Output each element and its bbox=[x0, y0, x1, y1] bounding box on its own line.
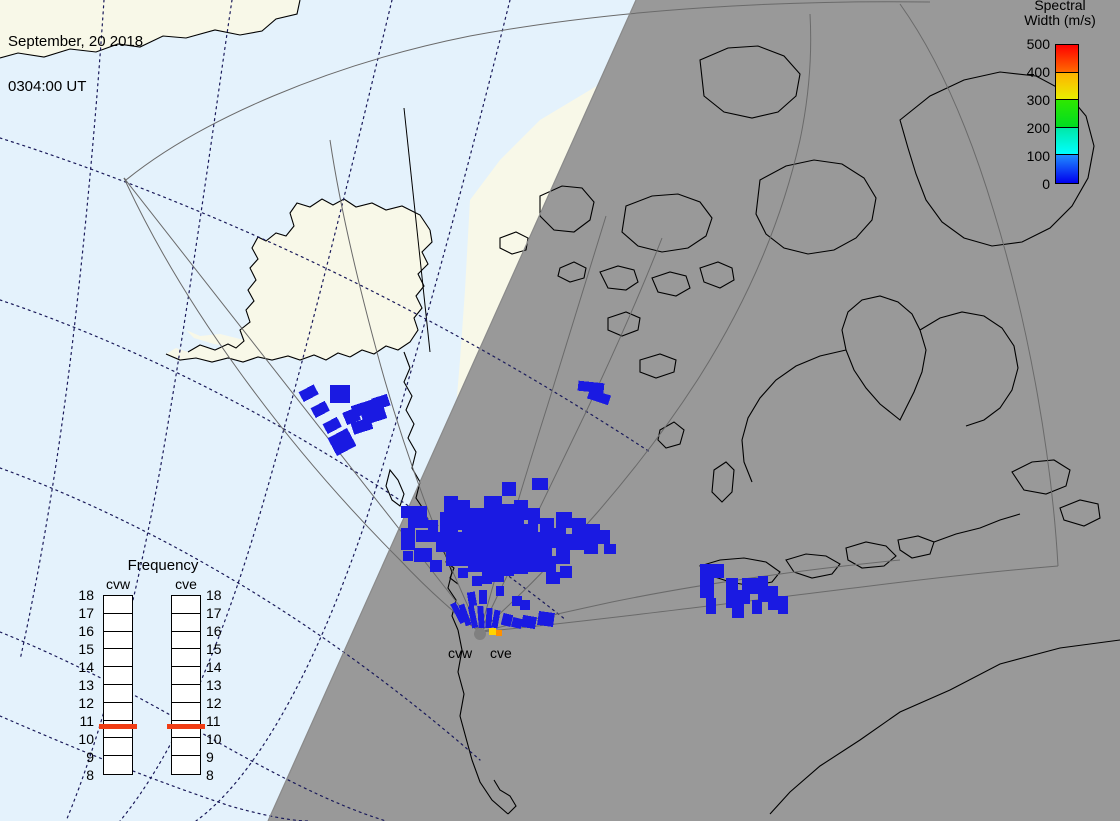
frequency-scale-tick-11: 11 bbox=[72, 714, 94, 728]
frequency-column-label-cve: cve bbox=[166, 577, 206, 592]
frequency-cell bbox=[172, 596, 200, 614]
colorbar-segment-0 bbox=[1056, 45, 1078, 73]
frequency-scale-tick-10: 10 bbox=[72, 732, 94, 746]
frequency-cell bbox=[172, 649, 200, 667]
frequency-cell bbox=[104, 614, 132, 632]
frequency-cell bbox=[104, 756, 132, 774]
frequency-scale-tick-14: 14 bbox=[72, 660, 94, 674]
frequency-scale-tick-8: 8 bbox=[72, 768, 94, 782]
colorbar-gradient bbox=[1055, 44, 1079, 184]
frequency-cell bbox=[104, 649, 132, 667]
frequency-scale-tick-16: 16 bbox=[206, 624, 228, 638]
frequency-bar-cvw bbox=[103, 595, 133, 775]
frequency-scale-tick-13: 13 bbox=[72, 678, 94, 692]
timestamp-time: 0304:00 UT bbox=[8, 79, 143, 94]
frequency-scale-tick-14: 14 bbox=[206, 660, 228, 674]
frequency-cell bbox=[104, 667, 132, 685]
colorbar-tick-labels: 5004003002001000 bbox=[1000, 36, 1050, 186]
site-label-cvw: cvw bbox=[448, 646, 472, 660]
frequency-column-label-cvw: cvw bbox=[98, 577, 138, 592]
frequency-scale-tick-10: 10 bbox=[206, 732, 228, 746]
frequency-legend-title: Frequency bbox=[88, 558, 238, 574]
colorbar-tick-300: 300 bbox=[1000, 93, 1050, 107]
frequency-cell bbox=[172, 667, 200, 685]
frequency-cell bbox=[172, 632, 200, 650]
colorbar-segment-1 bbox=[1056, 73, 1078, 101]
frequency-scale-tick-13: 13 bbox=[206, 678, 228, 692]
frequency-cell bbox=[172, 614, 200, 632]
frequency-scale-tick-9: 9 bbox=[72, 750, 94, 764]
colorbar-tick-200: 200 bbox=[1000, 121, 1050, 135]
colorbar-tick-0: 0 bbox=[1000, 177, 1050, 191]
colorbar-tick-400: 400 bbox=[1000, 65, 1050, 79]
site-label-cve: cve bbox=[490, 646, 512, 660]
colorbar-segment-4 bbox=[1056, 155, 1078, 183]
frequency-scale-tick-17: 17 bbox=[72, 606, 94, 620]
colorbar-title: Spectral Width (m/s) bbox=[1000, 0, 1120, 28]
frequency-scale-tick-15: 15 bbox=[206, 642, 228, 656]
superdarn-map-view: September, 20 2018 0304:00 UT Spectral W… bbox=[0, 0, 1120, 821]
frequency-cell bbox=[104, 703, 132, 721]
frequency-scale-tick-9: 9 bbox=[206, 750, 228, 764]
frequency-marker-cve bbox=[167, 724, 205, 729]
frequency-scale-left: 18171615141312111098 bbox=[72, 588, 94, 783]
frequency-cell bbox=[104, 738, 132, 756]
frequency-scale-tick-16: 16 bbox=[72, 624, 94, 638]
frequency-scale-tick-8: 8 bbox=[206, 768, 228, 782]
frequency-scale-tick-12: 12 bbox=[72, 696, 94, 710]
frequency-scale-tick-12: 12 bbox=[206, 696, 228, 710]
colorbar-segment-3 bbox=[1056, 128, 1078, 156]
spectral-width-colorbar: Spectral Width (m/s) 5004003002001000 bbox=[1000, 0, 1120, 200]
frequency-cell bbox=[172, 703, 200, 721]
frequency-cell bbox=[104, 596, 132, 614]
frequency-scale-tick-15: 15 bbox=[72, 642, 94, 656]
radar-site-marker bbox=[474, 628, 486, 640]
colorbar-tick-100: 100 bbox=[1000, 149, 1050, 163]
timestamp: September, 20 2018 0304:00 UT bbox=[8, 4, 143, 124]
frequency-scale-right: 18171615141312111098 bbox=[206, 588, 228, 783]
frequency-cell bbox=[172, 756, 200, 774]
frequency-legend: Frequency cvw cve 18171615141312111098 1… bbox=[88, 558, 238, 813]
frequency-scale-tick-18: 18 bbox=[206, 588, 228, 602]
frequency-cell bbox=[104, 721, 132, 739]
frequency-cell bbox=[172, 738, 200, 756]
colorbar-tick-500: 500 bbox=[1000, 37, 1050, 51]
frequency-marker-cvw bbox=[99, 724, 137, 729]
frequency-scale-tick-18: 18 bbox=[72, 588, 94, 602]
frequency-scale-tick-17: 17 bbox=[206, 606, 228, 620]
frequency-bar-cve bbox=[171, 595, 201, 775]
frequency-scale-tick-11: 11 bbox=[206, 714, 228, 728]
colorbar-segment-2 bbox=[1056, 100, 1078, 128]
frequency-cell bbox=[104, 685, 132, 703]
frequency-cell bbox=[172, 685, 200, 703]
frequency-cell bbox=[104, 632, 132, 650]
timestamp-date: September, 20 2018 bbox=[8, 34, 143, 49]
colorbar-title-line2: Width (m/s) bbox=[1000, 13, 1120, 28]
